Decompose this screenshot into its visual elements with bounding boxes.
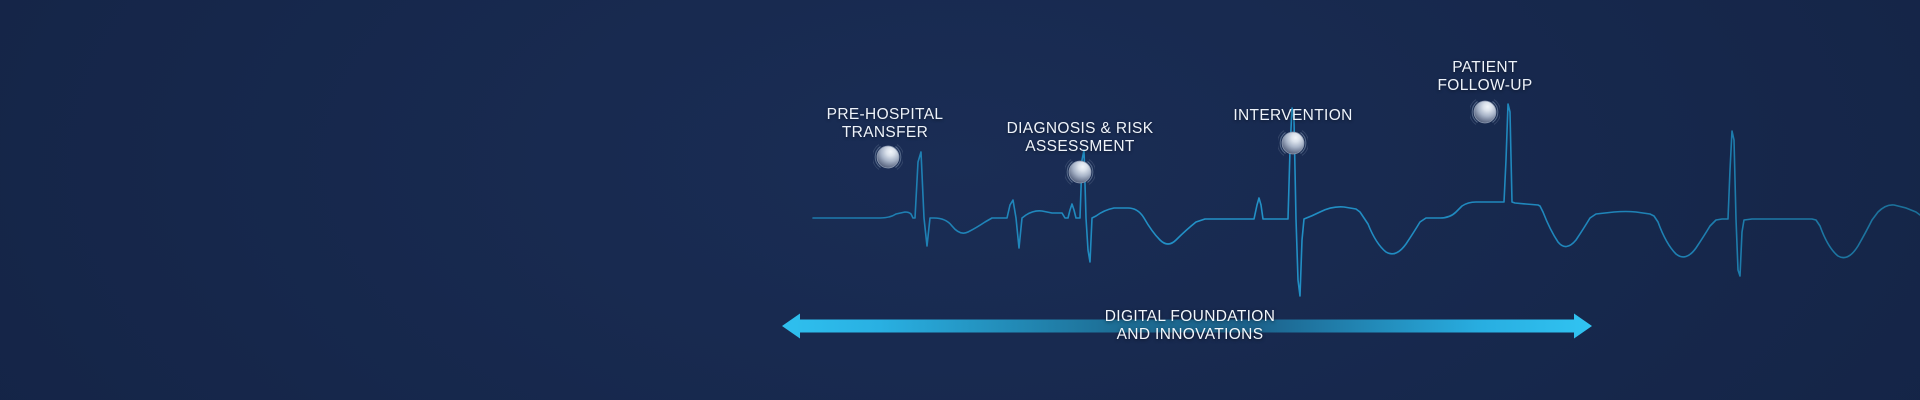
stage-marker-intervention[interactable] xyxy=(1278,128,1308,158)
marker-ring-icon xyxy=(1470,97,1500,127)
marker-ring-icon xyxy=(873,142,903,172)
stage-marker-pre-hospital-transfer[interactable] xyxy=(873,142,903,172)
marker-ring-icon xyxy=(1065,157,1095,187)
stage-marker-patient-follow-up[interactable] xyxy=(1470,97,1500,127)
marker-ring-icon xyxy=(1278,128,1308,158)
foundation-arrow xyxy=(0,0,1920,400)
ecg-journey-infographic: PRE-HOSPITAL TRANSFER DIAGNOSIS & RISK A… xyxy=(0,0,1920,400)
stage-marker-diagnosis-risk-assessment[interactable] xyxy=(1065,157,1095,187)
